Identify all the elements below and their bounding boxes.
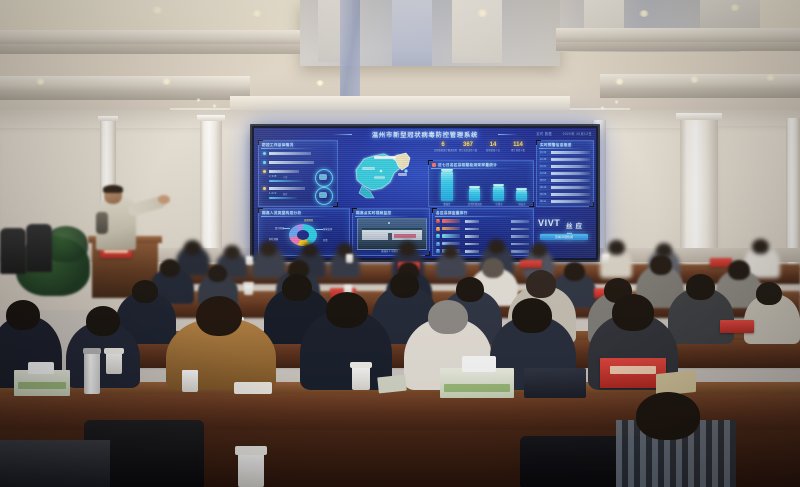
pilaster-right-1 bbox=[680, 116, 718, 270]
tissue-box bbox=[440, 368, 514, 398]
ceiling-beam-3-shadow bbox=[0, 92, 250, 100]
audience-head bbox=[160, 259, 180, 277]
thermos-cap bbox=[83, 348, 101, 354]
thermos bbox=[84, 352, 100, 394]
pilaster-left-2-cap bbox=[197, 115, 225, 121]
napkin bbox=[234, 382, 272, 394]
desk-nameplate-text bbox=[610, 366, 656, 374]
audience-head bbox=[686, 274, 715, 300]
presenter-hair bbox=[103, 185, 123, 193]
audience-head bbox=[6, 300, 40, 330]
audience-head bbox=[443, 245, 458, 258]
audience-head bbox=[526, 270, 556, 298]
downlight-4 bbox=[639, 10, 649, 17]
tissue-box-band bbox=[444, 384, 510, 392]
audience-head bbox=[224, 245, 240, 259]
tea-cup-lid bbox=[104, 348, 124, 354]
ceiling-beam-1 bbox=[0, 30, 300, 44]
pilaster-left-1-cap bbox=[98, 116, 118, 121]
audience-head bbox=[208, 265, 227, 282]
tea-cup-lid bbox=[243, 282, 254, 285]
audience-head bbox=[428, 300, 468, 334]
tea-cup bbox=[238, 452, 264, 487]
downlight-1 bbox=[152, 6, 163, 14]
audience-head bbox=[564, 262, 585, 281]
audience-head bbox=[302, 243, 318, 257]
desk-nameplate bbox=[720, 320, 754, 333]
tissue-sheet bbox=[462, 356, 496, 372]
presenter-arm-near bbox=[96, 212, 108, 234]
notebook bbox=[377, 375, 407, 394]
audience-head bbox=[326, 292, 368, 328]
downlight-6 bbox=[36, 78, 45, 85]
downlight-7 bbox=[162, 78, 171, 85]
audience-head bbox=[86, 306, 120, 336]
audience-head bbox=[399, 241, 416, 256]
tea-cup-lid bbox=[350, 362, 372, 368]
audience-head bbox=[260, 241, 277, 256]
audience-head bbox=[456, 277, 484, 302]
downlight-10 bbox=[690, 76, 699, 83]
audience-head bbox=[132, 280, 158, 303]
audience-head bbox=[756, 282, 782, 305]
tea-cup bbox=[346, 254, 353, 263]
audience-head bbox=[531, 243, 547, 257]
pilaster-right-3 bbox=[786, 118, 800, 266]
audience-head bbox=[488, 239, 505, 254]
downlight-2 bbox=[252, 10, 262, 17]
ceiling-beam-4-shadow bbox=[600, 90, 800, 98]
audience-head bbox=[608, 240, 625, 255]
downlight-12 bbox=[196, 98, 201, 102]
downlight-13 bbox=[212, 104, 217, 108]
audience-head bbox=[612, 294, 654, 331]
front-person-head bbox=[636, 392, 700, 440]
tissue-sheet bbox=[28, 362, 54, 374]
side-chair-2 bbox=[26, 224, 52, 272]
tissue-box-band bbox=[18, 382, 66, 389]
front-person-shoulder bbox=[0, 440, 110, 487]
downlight-9 bbox=[615, 78, 624, 85]
led-video-wall[interactable]: 温州市新型冠状病毒防控管理系统 2020年 10月12日 实时 数据 防控工作总… bbox=[252, 126, 598, 260]
audience-head bbox=[282, 274, 312, 301]
audience-head bbox=[512, 298, 552, 333]
downlight-15 bbox=[614, 100, 619, 104]
audience-head bbox=[390, 272, 419, 298]
ceiling-beam-1-shadow bbox=[0, 44, 300, 54]
audience-head bbox=[728, 260, 750, 280]
tea-cup bbox=[106, 352, 122, 374]
tea-cup-lid bbox=[235, 446, 267, 455]
presenter-hand bbox=[158, 195, 170, 204]
tea-cup bbox=[602, 254, 609, 263]
bag bbox=[524, 368, 586, 398]
ceiling-box-facet-c bbox=[452, 0, 502, 63]
screen-glare bbox=[254, 128, 596, 258]
pilaster-left-2 bbox=[200, 118, 222, 268]
audience-head bbox=[650, 255, 672, 275]
ceiling-box-facet-b bbox=[392, 0, 432, 66]
ceiling-beam-2 bbox=[556, 28, 800, 42]
downlight-5 bbox=[730, 4, 740, 11]
side-chair-1 bbox=[0, 228, 26, 274]
tea-cup bbox=[244, 284, 253, 295]
tea-cup bbox=[182, 370, 198, 392]
ceiling-cove bbox=[230, 96, 570, 110]
conference-room-photo: 温州市新型冠状病毒防控管理系统 2020年 10月12日 实时 数据 防控工作总… bbox=[0, 0, 800, 487]
downlight-8 bbox=[316, 80, 324, 86]
audience-head bbox=[184, 240, 201, 255]
desk-nameplate bbox=[520, 260, 542, 268]
tea-cup bbox=[246, 256, 253, 265]
downlight-3 bbox=[477, 9, 488, 17]
audience-head bbox=[196, 296, 242, 336]
tea-cup bbox=[352, 366, 370, 390]
audience-head bbox=[752, 239, 769, 254]
pilaster-right-1-cap bbox=[676, 113, 722, 120]
audience-head bbox=[482, 258, 504, 278]
ceiling-beam-2-shadow bbox=[556, 42, 800, 51]
downlight-11 bbox=[766, 74, 775, 81]
